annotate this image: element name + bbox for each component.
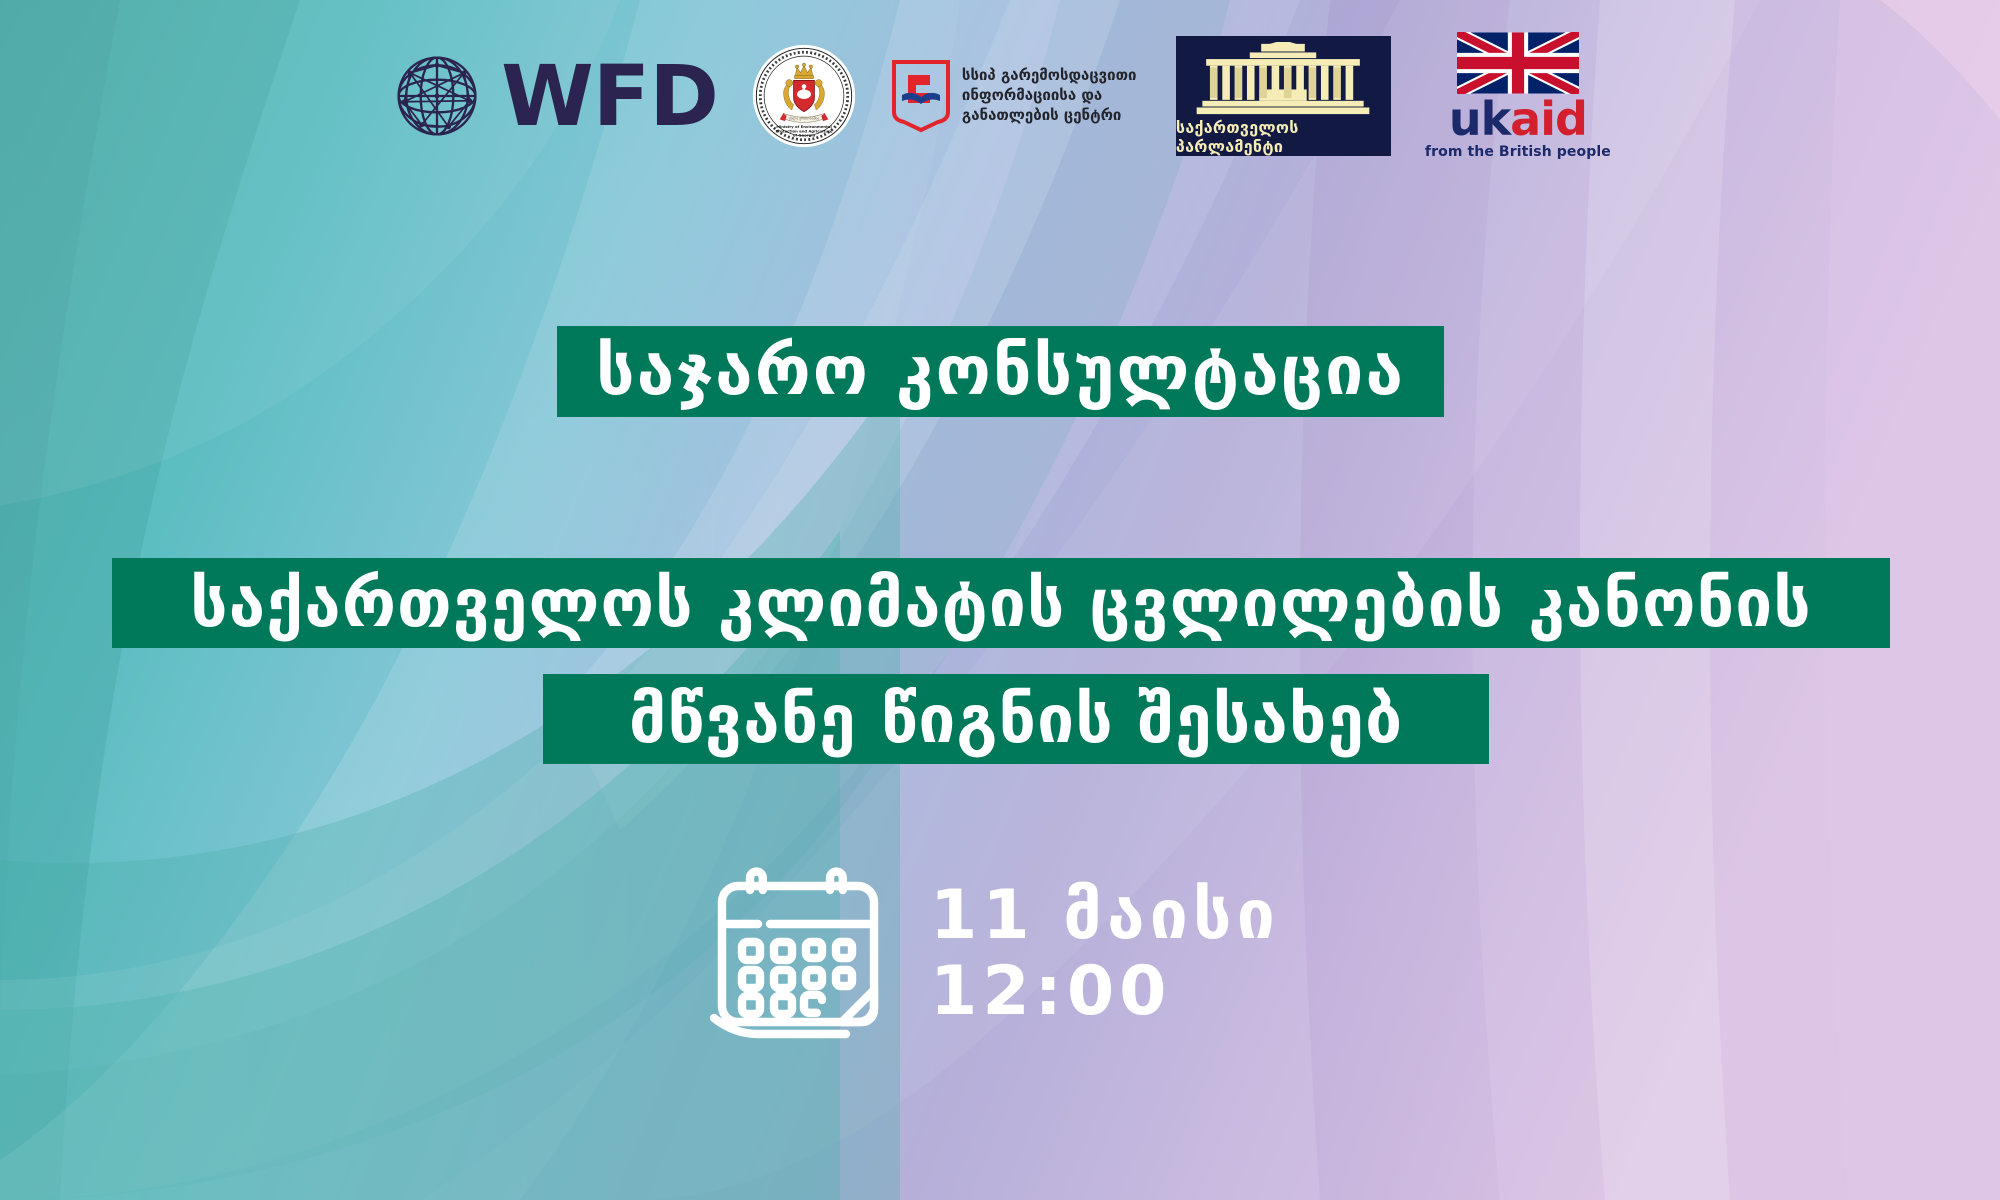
event-datetime-block: 11 მაისი 12:00 xyxy=(710,862,1280,1046)
calendar-icon xyxy=(710,862,886,1046)
globe-wireframe-icon xyxy=(389,48,485,144)
event-time: 12:00 xyxy=(930,954,1280,1030)
partner-logo-strip: WFD xyxy=(0,26,2000,166)
wfd-logo: WFD xyxy=(389,48,718,144)
poster-canvas: WFD xyxy=(0,0,2000,1200)
seic-label: სსიპ გარემოსდაცვითი ინფორმაციისა და განა… xyxy=(962,66,1142,125)
headline-banner-subtitle-line2: მწვანე წიგნის შესახებ xyxy=(543,674,1489,764)
event-datetime-text: 11 მაისი 12:00 xyxy=(930,878,1280,1030)
union-jack-flag-icon xyxy=(1457,32,1579,94)
headline-banner-title: საჯარო კონსულტაცია xyxy=(557,326,1444,417)
page-title: საჯარო კონსულტაცია xyxy=(596,332,1405,411)
ukaid-tagline: from the British people xyxy=(1425,144,1611,160)
parliament-building-icon xyxy=(1188,42,1378,116)
event-date: 11 მაისი xyxy=(930,878,1280,954)
parliament-of-georgia-logo: საქართველოს პარლამენტი xyxy=(1176,36,1391,156)
subtitle-line-2: მწვანე წიგნის შესახებ xyxy=(629,681,1403,758)
ukaid-logo: ukaid from the British people xyxy=(1425,32,1611,160)
shield-book-icon xyxy=(890,59,952,133)
svg-text:ძალა ერთობაშია: ძალა ერთობაშია xyxy=(789,116,820,120)
ukaid-wordmark: ukaid xyxy=(1449,96,1587,142)
subtitle-line-1: საქართველოს კლიმატის ცვლილების კანონის xyxy=(190,565,1812,642)
wfd-wordmark: WFD xyxy=(501,54,718,138)
headline-banner-subtitle-line1: საქართველოს კლიმატის ცვლილების კანონის xyxy=(112,558,1890,648)
ukaid-aid-text: aid xyxy=(1510,92,1587,146)
svg-text:of Georgia: of Georgia xyxy=(793,133,816,138)
parliament-label: საქართველოს პარლამენტი xyxy=(1176,118,1391,156)
ukaid-uk-text: uk xyxy=(1449,92,1510,146)
environmental-information-education-centre-logo: სსიპ გარემოსდაცვითი ინფორმაციისა და განა… xyxy=(890,59,1142,133)
georgia-coat-of-arms-seal-icon: ძალა ერთობაშია Ministry of Environmental… xyxy=(752,44,856,148)
